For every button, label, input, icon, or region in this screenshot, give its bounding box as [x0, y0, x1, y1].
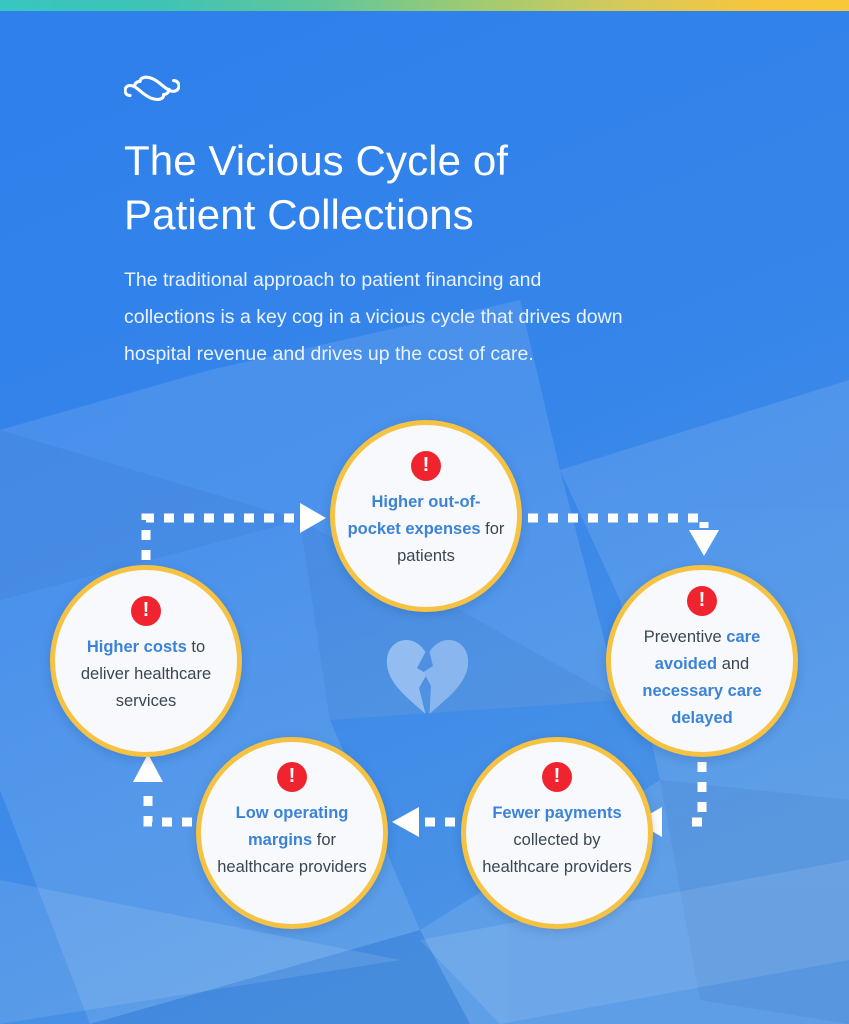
header-block: The Vicious Cycle of Patient Collections… [124, 68, 784, 373]
cycle-node-higher-out-of-pocket-expenses[interactable]: ! Higher out-of-pocket expenses for pati… [330, 420, 522, 612]
alert-exclamation-icon: ! [131, 596, 161, 626]
page-subtitle: The traditional approach to patient fina… [124, 262, 744, 373]
page-title: The Vicious Cycle of Patient Collections [124, 134, 784, 242]
cycle-node-highlight: Higher costs [87, 638, 187, 656]
cycle-node-label: Low operating margins for healthcare pro… [201, 800, 383, 881]
cycle-node-mid: and [717, 655, 749, 673]
alert-exclamation-icon: ! [687, 586, 717, 616]
cycle-node-lead: Preventive [644, 628, 727, 646]
alert-exclamation-icon: ! [411, 451, 441, 481]
cycle-node-highlight: Higher out-of-pocket expenses [348, 493, 481, 538]
cycle-node-rest: collected by healthcare providers [482, 831, 632, 876]
cycle-node-label: Fewer payments collected by healthcare p… [466, 800, 648, 881]
infinity-knot-logo-icon [124, 68, 180, 108]
cycle-node-label: Preventive care avoided and necessary ca… [611, 624, 793, 732]
cycle-node-highlight-2: necessary care delayed [642, 682, 761, 727]
infographic-page: The Vicious Cycle of Patient Collections… [0, 0, 849, 1024]
cycle-node-higher-costs-to-deliver[interactable]: ! Higher costs to deliver healthcare ser… [50, 565, 242, 757]
cycle-node-label: Higher costs to deliver healthcare servi… [55, 634, 237, 715]
top-gradient-bar [0, 0, 849, 11]
cycle-node-highlight: Fewer payments [492, 804, 621, 822]
alert-exclamation-icon: ! [277, 762, 307, 792]
cycle-node-preventive-care-avoided[interactable]: ! Preventive care avoided and necessary … [606, 565, 798, 757]
alert-exclamation-icon: ! [542, 762, 572, 792]
cycle-node-fewer-payments-collected[interactable]: ! Fewer payments collected by healthcare… [461, 737, 653, 929]
cycle-node-label: Higher out-of-pocket expenses for patien… [335, 489, 517, 570]
cycle-node-low-operating-margins[interactable]: ! Low operating margins for healthcare p… [196, 737, 388, 929]
